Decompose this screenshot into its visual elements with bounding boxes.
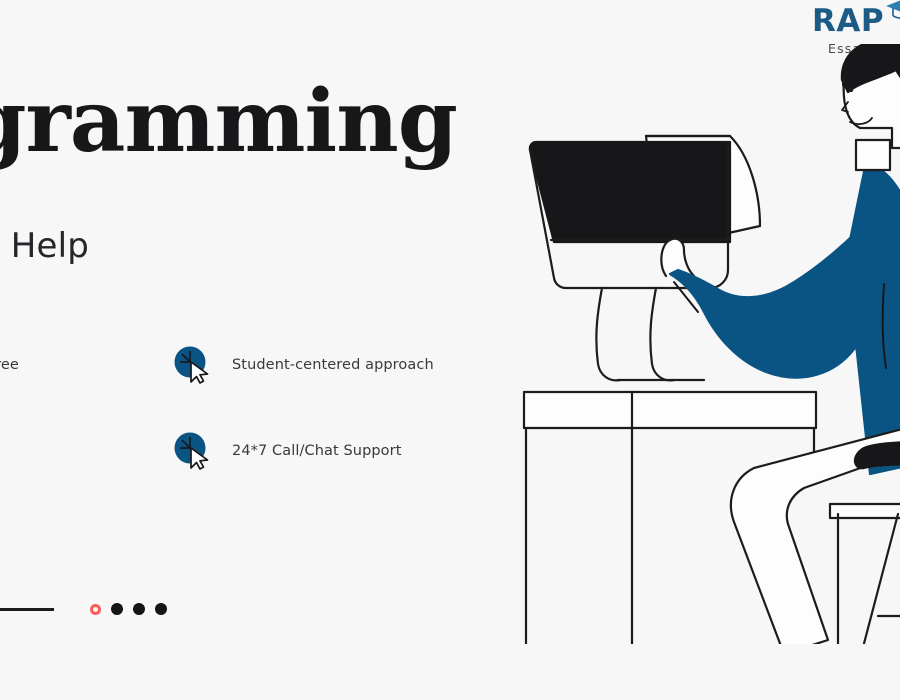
feature-label: 24*7 Call/Chat Support	[232, 443, 402, 459]
feature-item-3[interactable]: 24*7 Call/Chat Support	[170, 428, 460, 474]
feature-list: arism Free Student-centered approach	[0, 322, 520, 494]
carousel-controls[interactable]	[0, 603, 167, 615]
carousel-dot-2[interactable]	[133, 603, 145, 615]
feature-item-0[interactable]: arism Free	[0, 342, 170, 388]
carousel-dot-0[interactable]	[90, 604, 101, 615]
feature-label: Student-centered approach	[232, 357, 434, 373]
feature-item-1[interactable]: Student-centered approach	[170, 342, 460, 388]
hero-subheadline: ment Help	[0, 223, 89, 269]
feature-item-2[interactable]: Writers	[0, 428, 170, 474]
hero-banner: RAP Essay, D ogramming ment Help	[0, 0, 900, 700]
click-cursor-icon	[170, 428, 216, 474]
click-cursor-icon	[170, 342, 216, 388]
person-at-desk-illustration	[498, 44, 900, 644]
graduation-cap-icon	[884, 0, 900, 19]
carousel-progress-line	[0, 608, 54, 611]
feature-row: Writers 24*7 Call/Chat Support	[0, 408, 520, 494]
carousel-dots[interactable]	[90, 603, 167, 615]
carousel-dot-3[interactable]	[155, 603, 167, 615]
feature-label: arism Free	[0, 357, 19, 373]
feature-row: arism Free Student-centered approach	[0, 322, 520, 408]
carousel-dot-1[interactable]	[111, 603, 123, 615]
hero-headline: ogramming	[0, 72, 457, 172]
